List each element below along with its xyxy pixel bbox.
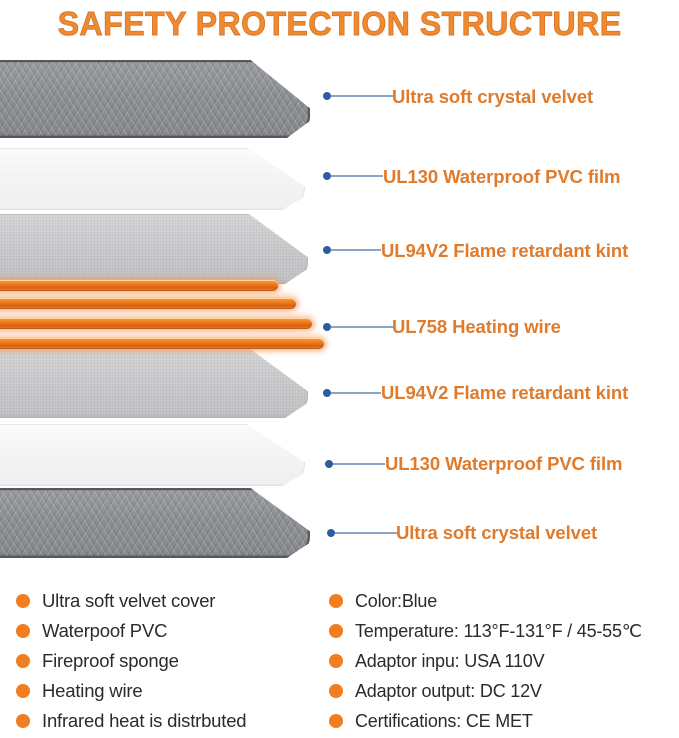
wire-run	[0, 280, 278, 291]
bullet-dot-icon	[16, 654, 30, 668]
leader-line-velvet-top	[323, 90, 393, 102]
bullet-dot-icon	[323, 389, 331, 397]
wire-run	[0, 338, 324, 349]
list-item-label: Color:Blue	[355, 591, 437, 612]
list-item: Ultra soft velvet cover	[16, 586, 326, 616]
slab-outline	[0, 424, 305, 486]
layer-label-velvet-bottom: Ultra soft crystal velvet	[396, 522, 597, 544]
list-item-label: Infrared heat is distrbuted	[42, 710, 246, 732]
bullet-dot-icon	[329, 624, 343, 638]
layer-slab-pvc-top	[0, 148, 305, 210]
layer-slab-velvet-bottom	[0, 488, 310, 558]
leader-line-velvet-bottom	[327, 527, 397, 539]
list-item: Infrared heat is distrbuted	[16, 706, 326, 736]
leader-stroke	[331, 249, 381, 250]
spec-list-features: Ultra soft velvet cover Waterpoof PVC Fi…	[16, 586, 326, 736]
slab-outline	[0, 348, 308, 418]
wire-run	[0, 298, 296, 309]
layer-slab-knit-top	[0, 214, 308, 284]
bullet-dot-icon	[16, 624, 30, 638]
bullet-dot-icon	[329, 714, 343, 728]
leader-stroke	[335, 532, 397, 533]
layer-slab-knit-bottom	[0, 348, 308, 418]
list-item: Certifications: CE MET	[329, 706, 679, 736]
list-item: Temperature: 113°F-131°F / 45-55℃	[329, 616, 679, 646]
layer-label-velvet-top: Ultra soft crystal velvet	[392, 86, 593, 108]
title-bar: SAFETY PROTECTION STRUCTURE	[0, 0, 679, 48]
list-item: Adaptor output: DC 12V	[329, 676, 679, 706]
list-item-label: Fireproof sponge	[42, 650, 179, 672]
spec-lists: Ultra soft velvet cover Waterpoof PVC Fi…	[0, 586, 679, 738]
list-item: Color:Blue	[329, 586, 679, 616]
wire-run	[0, 318, 312, 329]
layer-label-heating-wire: UL758 Heating wire	[392, 316, 561, 338]
list-item-label: Adaptor output: DC 12V	[355, 681, 542, 702]
bullet-dot-icon	[323, 92, 331, 100]
bullet-dot-icon	[325, 460, 333, 468]
leader-stroke	[331, 326, 393, 327]
layer-slab-pvc-bottom	[0, 424, 305, 486]
leader-stroke	[333, 463, 385, 464]
layer-label-knit-top: UL94V2 Flame retardant kint	[381, 240, 628, 262]
list-item: Adaptor inpu: USA 110V	[329, 646, 679, 676]
slab-outline	[0, 488, 310, 558]
bullet-dot-icon	[329, 654, 343, 668]
exploded-layer-stack	[0, 48, 340, 568]
page-title: SAFETY PROTECTION STRUCTURE	[58, 5, 622, 43]
layer-slab-velvet-top	[0, 60, 310, 138]
slab-outline	[0, 214, 308, 284]
layer-label-knit-bottom: UL94V2 Flame retardant kint	[381, 382, 628, 404]
leader-stroke	[331, 95, 393, 96]
bullet-dot-icon	[16, 594, 30, 608]
leader-stroke	[331, 175, 383, 176]
list-item: Fireproof sponge	[16, 646, 326, 676]
slab-outline	[0, 60, 310, 138]
leader-line-pvc-bottom	[325, 458, 385, 470]
leader-line-pvc-top	[323, 170, 383, 182]
spec-list-specifications: Color:Blue Temperature: 113°F-131°F / 45…	[329, 586, 679, 736]
leader-stroke	[331, 392, 381, 393]
list-item-label: Ultra soft velvet cover	[42, 590, 215, 612]
list-item-label: Heating wire	[42, 680, 142, 702]
bullet-dot-icon	[327, 529, 335, 537]
bullet-dot-icon	[329, 684, 343, 698]
bullet-dot-icon	[16, 684, 30, 698]
list-item: Heating wire	[16, 676, 326, 706]
list-item-label: Adaptor inpu: USA 110V	[355, 651, 544, 672]
list-item-label: Temperature: 113°F-131°F / 45-55℃	[355, 621, 642, 642]
layer-label-pvc-top: UL130 Waterproof PVC film	[383, 166, 620, 188]
heating-wire-element	[0, 280, 340, 358]
bullet-dot-icon	[16, 714, 30, 728]
list-item-label: Waterpoof PVC	[42, 620, 167, 642]
leader-line-knit-top	[323, 244, 381, 256]
bullet-dot-icon	[323, 172, 331, 180]
list-item-label: Certifications: CE MET	[355, 711, 533, 732]
bullet-dot-icon	[329, 594, 343, 608]
slab-outline	[0, 148, 305, 210]
layer-label-pvc-bottom: UL130 Waterproof PVC film	[385, 453, 622, 475]
list-item: Waterpoof PVC	[16, 616, 326, 646]
bullet-dot-icon	[323, 246, 331, 254]
leader-line-knit-bottom	[323, 387, 381, 399]
